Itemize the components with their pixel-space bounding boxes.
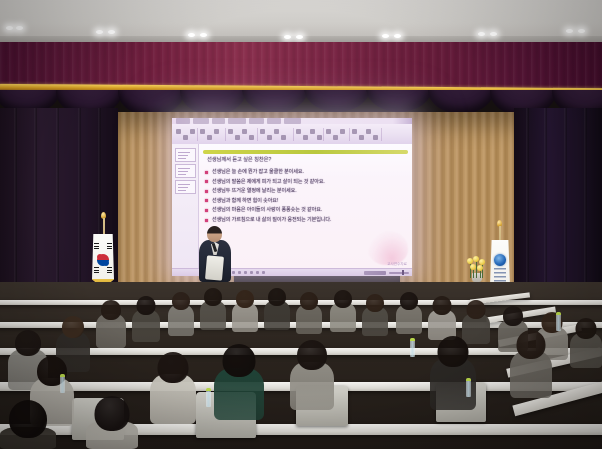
audience-member <box>86 396 138 449</box>
ribbon-group[interactable] <box>175 128 198 141</box>
audience-head <box>503 306 523 326</box>
audience-member <box>510 330 552 398</box>
valance-sheen <box>0 42 602 90</box>
downlight <box>200 33 207 37</box>
presenter <box>198 226 232 282</box>
ribbon-button-icon[interactable] <box>235 135 240 140</box>
ribbon-button-icon[interactable] <box>310 129 315 134</box>
view-mode-buttons[interactable] <box>364 271 386 275</box>
status-bar-icon[interactable] <box>256 271 259 274</box>
water-bottle <box>206 388 211 407</box>
presenter-papers <box>205 255 224 280</box>
ribbon-group[interactable] <box>295 128 324 141</box>
audience-member <box>330 290 356 332</box>
status-bar-icon[interactable] <box>238 271 241 274</box>
downlight <box>578 29 585 33</box>
audience-member <box>570 318 602 368</box>
flower-bloom <box>477 265 483 271</box>
downlight <box>296 35 303 39</box>
ribbon-button-icon[interactable] <box>274 129 279 134</box>
audience-head <box>438 336 469 367</box>
ribbon-button-icon[interactable] <box>242 129 247 134</box>
audience-head <box>400 292 418 310</box>
downlight <box>478 32 485 36</box>
audience-head <box>62 316 84 338</box>
ribbon-button-icon[interactable] <box>359 135 364 140</box>
water-bottle <box>466 378 471 397</box>
audience-head <box>236 290 254 308</box>
audience-member <box>290 340 334 410</box>
slide-footer-note: 교사연수자료 <box>387 262 407 267</box>
swag-curtain <box>304 90 370 112</box>
ribbon-button-icon[interactable] <box>373 135 378 140</box>
audience-head <box>172 292 190 310</box>
ribbon-button-icon[interactable] <box>326 129 331 134</box>
swag-curtain <box>428 90 494 114</box>
audience-member <box>264 288 290 330</box>
downlight <box>188 33 195 37</box>
downlight <box>96 30 103 34</box>
audience-head <box>95 396 130 431</box>
ribbon-button-icon[interactable] <box>281 135 286 140</box>
water-bottle <box>410 338 415 357</box>
audience-member <box>132 296 160 342</box>
slide-thumbnail[interactable] <box>175 148 196 162</box>
swag-curtain <box>242 90 308 113</box>
flower-bloom <box>470 264 476 270</box>
slide-bullet: 선생님은 늘 손에 뭔가 잡고 울클한 분이세요. <box>205 169 407 175</box>
slide-decoration <box>368 231 408 265</box>
slide-title: 선생님께서 듣고 싶은 칭찬은? <box>207 157 387 163</box>
water-bottle <box>60 374 65 393</box>
audience-member <box>214 344 264 420</box>
audience-head <box>15 330 41 356</box>
slide-bullet: 선생님의 말씀은 제에게 피가 되고 살이 되는 것 같아요. <box>205 179 407 185</box>
ribbon-group[interactable] <box>351 128 382 141</box>
audience-head <box>158 352 189 383</box>
status-bar-icon[interactable] <box>244 271 247 274</box>
status-bar-icon[interactable] <box>232 271 235 274</box>
audience-member <box>232 290 258 332</box>
downlight <box>382 34 389 38</box>
slide-thumbnail-pane[interactable] <box>172 144 199 276</box>
downlight <box>394 34 401 38</box>
audience-head <box>204 288 222 306</box>
audience-head <box>366 294 384 312</box>
ribbon-button-icon[interactable] <box>333 135 338 140</box>
slide-bullet: 선생님의 가르침으로 내 삶의 질이가 응전되는 기본입니다. <box>205 217 407 223</box>
status-bar-icon[interactable] <box>250 271 253 274</box>
slide-accent-bar <box>203 150 408 154</box>
ribbon-toolbar[interactable] <box>172 124 412 145</box>
slide-bullet: 선생님의 마음은 아이들의 사랑이 퐁퐁솟는 것 같아요. <box>205 207 407 213</box>
ribbon-button-icon[interactable] <box>183 135 188 140</box>
slide-thumbnail[interactable] <box>175 164 196 178</box>
ribbon-button-icon[interactable] <box>366 129 371 134</box>
presenter-head <box>207 226 222 242</box>
ribbon-button-icon[interactable] <box>317 135 322 140</box>
audience-member <box>430 336 476 410</box>
ribbon-button-icon[interactable] <box>267 135 272 140</box>
audience-head <box>517 330 546 359</box>
ribbon-button-icon[interactable] <box>207 135 212 140</box>
swag-curtain <box>366 90 432 112</box>
audience-member <box>96 300 126 348</box>
ribbon-button-icon[interactable] <box>249 135 254 140</box>
ribbon-button-icon[interactable] <box>352 129 357 134</box>
audience-head <box>223 344 256 377</box>
ribbon-button-icon[interactable] <box>200 129 205 134</box>
ribbon-button-icon[interactable] <box>176 129 181 134</box>
ribbon-group[interactable] <box>227 128 258 141</box>
audience-member <box>428 296 456 340</box>
lecture-hall-photo: 선생님께서 듣고 싶은 칭찬은? 선생님은 늘 손에 뭔가 잡고 울클한 분이세… <box>0 0 602 449</box>
downlight <box>108 30 115 34</box>
audience-member <box>150 352 196 424</box>
status-bar-icon[interactable] <box>262 271 265 274</box>
audience-member <box>200 288 226 330</box>
audience-head <box>268 288 286 306</box>
downlight <box>284 35 291 39</box>
audience-head <box>433 296 452 315</box>
zoom-slider[interactable] <box>389 272 409 274</box>
institution-emblem-icon <box>494 254 506 266</box>
downlight-group <box>0 0 602 42</box>
downlight <box>16 26 23 30</box>
ribbon-group[interactable] <box>199 128 226 141</box>
audience-head <box>297 340 327 370</box>
ribbon-button-icon[interactable] <box>340 129 345 134</box>
audience-area <box>0 282 602 449</box>
audience-head <box>334 290 352 308</box>
downlight <box>6 26 13 30</box>
audience-member <box>0 400 56 449</box>
ribbon-button-icon[interactable] <box>190 129 195 134</box>
slide-bullet: 선생님두 뜨거운 열정에 날리는 분이세요. <box>205 188 407 194</box>
ribbon-button-icon[interactable] <box>228 129 233 134</box>
downlight <box>566 29 573 33</box>
slide-bullet: 선생님과 함께 하면 힘이 솟아요! <box>205 198 407 204</box>
audience-head <box>576 318 597 339</box>
taeguk-symbol <box>97 254 109 266</box>
audience-member <box>296 292 322 334</box>
water-bottle <box>556 312 561 331</box>
audience-member <box>362 294 388 336</box>
downlight <box>490 32 497 36</box>
audience-head <box>9 400 47 438</box>
audience-head <box>101 300 121 320</box>
ribbon-group[interactable] <box>325 128 350 141</box>
flower-arrangement <box>466 256 488 282</box>
slide-thumbnail[interactable] <box>175 180 196 194</box>
ribbon-button-icon[interactable] <box>303 135 308 140</box>
audience-member <box>168 292 194 336</box>
ribbon-button-icon[interactable] <box>260 129 265 134</box>
ribbon-group[interactable] <box>259 128 294 141</box>
south-korean-flag <box>92 234 114 288</box>
ribbon-button-icon[interactable] <box>214 129 219 134</box>
audience-head <box>137 296 156 315</box>
slide-bullet-list: 선생님은 늘 손에 뭔가 잡고 울클한 분이세요.선생님의 말씀은 제에게 피가… <box>205 169 407 227</box>
audience-head <box>300 292 318 310</box>
audience-member <box>396 292 422 334</box>
ribbon-button-icon[interactable] <box>296 129 301 134</box>
audience-head <box>467 300 486 319</box>
